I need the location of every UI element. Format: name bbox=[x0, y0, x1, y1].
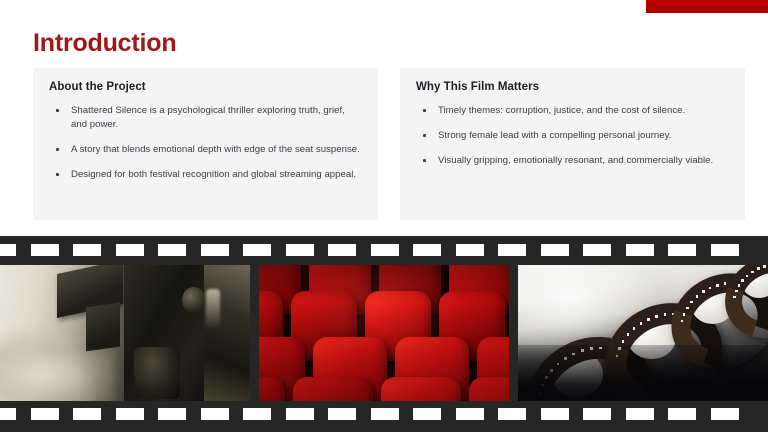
film-sprocket-hole bbox=[690, 301, 693, 304]
bullet-text: Visually gripping, emotionally resonant,… bbox=[438, 155, 713, 166]
film-sprocket-hole bbox=[738, 284, 741, 287]
filmstrip-perforation bbox=[116, 408, 144, 420]
list-item: Visually gripping, emotionally resonant,… bbox=[416, 154, 729, 168]
film-sprocket-hole bbox=[724, 282, 727, 285]
filmstrip-perforation bbox=[541, 244, 569, 256]
camera-photo-art bbox=[0, 265, 250, 401]
filmstrip-perforation bbox=[583, 244, 611, 256]
film-sprocket-hole bbox=[757, 267, 760, 270]
filmstrip-frames bbox=[0, 265, 768, 401]
bullet-text: Shattered Silence is a psychological thr… bbox=[71, 105, 345, 130]
why-this-film-matters-bullet-list: Timely themes: corruption, justice, and … bbox=[416, 104, 729, 168]
film-sprocket-hole bbox=[733, 296, 736, 299]
filmstrip-perforation bbox=[158, 244, 186, 256]
slide-canvas: Introduction About the Project Shattered… bbox=[0, 0, 768, 432]
list-item: Strong female lead with a compelling per… bbox=[416, 129, 729, 143]
page-title: Introduction bbox=[33, 28, 176, 58]
filmstrip-perforation bbox=[413, 244, 441, 256]
filmstrip-perforation bbox=[31, 408, 59, 420]
why-this-film-matters-card: Why This Film Matters Timely themes: cor… bbox=[400, 68, 745, 220]
film-sprocket-hole bbox=[746, 275, 749, 278]
filmstrip-perforation bbox=[371, 408, 399, 420]
bullet-text: A story that blends emotional depth with… bbox=[71, 144, 360, 155]
film-sprocket-hole bbox=[716, 284, 719, 287]
about-the-project-card: About the Project Shattered Silence is a… bbox=[33, 68, 378, 220]
film-sprocket-hole bbox=[664, 313, 667, 316]
filmstrip-perforation bbox=[73, 244, 101, 256]
filmstrip-perforation bbox=[371, 244, 399, 256]
bullet-dot-icon bbox=[56, 173, 59, 176]
list-item: Shattered Silence is a psychological thr… bbox=[49, 104, 362, 132]
bullet-text: Timely themes: corruption, justice, and … bbox=[438, 105, 685, 116]
bullet-dot-icon bbox=[423, 109, 426, 112]
filmstrip-perforations-top bbox=[0, 244, 768, 256]
film-sprocket-hole bbox=[633, 327, 636, 330]
list-item: Designed for both festival recognition a… bbox=[49, 168, 362, 182]
film-sprocket-hole bbox=[647, 318, 650, 321]
filmstrip-perforation bbox=[116, 244, 144, 256]
film-sprocket-hole bbox=[627, 333, 630, 336]
filmstrip-perforation bbox=[328, 244, 356, 256]
filmstrip-perforation bbox=[201, 244, 229, 256]
bullet-dot-icon bbox=[423, 134, 426, 137]
filmstrip-perforation bbox=[668, 408, 696, 420]
filmstrip-perforation bbox=[243, 408, 271, 420]
film-sprocket-hole bbox=[681, 320, 684, 323]
card-heading: Why This Film Matters bbox=[416, 81, 729, 93]
filmstrip-perforation bbox=[456, 408, 484, 420]
card-heading: About the Project bbox=[49, 81, 362, 93]
film-sprocket-hole bbox=[655, 315, 658, 318]
filmstrip-perforation bbox=[158, 408, 186, 420]
filmstrip-perforation bbox=[498, 244, 526, 256]
camera-photo-grain bbox=[0, 265, 250, 401]
filmstrip-band bbox=[0, 236, 768, 432]
filmstrip-perforation bbox=[711, 244, 739, 256]
filmstrip-perforation bbox=[286, 244, 314, 256]
bullet-dot-icon bbox=[56, 148, 59, 151]
curled-35mm-film-strips-photo bbox=[518, 265, 768, 401]
film-sprocket-hole bbox=[735, 290, 738, 293]
red-cinema-seats-photo bbox=[259, 265, 509, 401]
film-sprocket-hole bbox=[683, 313, 686, 316]
list-item: Timely themes: corruption, justice, and … bbox=[416, 104, 729, 118]
filmstrip-perforation bbox=[0, 244, 16, 256]
filmstrip-perforation bbox=[243, 244, 271, 256]
filmstrip-perforation bbox=[541, 408, 569, 420]
filmstrip-perforation bbox=[413, 408, 441, 420]
about-the-project-bullet-list: Shattered Silence is a psychological thr… bbox=[49, 104, 362, 182]
list-item: A story that blends emotional depth with… bbox=[49, 143, 362, 157]
filmstrip-perforation bbox=[201, 408, 229, 420]
bullet-text: Strong female lead with a compelling per… bbox=[438, 130, 671, 141]
filmstrip-perforation bbox=[626, 244, 654, 256]
filmstrip-perforation bbox=[73, 408, 101, 420]
bullet-dot-icon bbox=[56, 109, 59, 112]
filmstrip-perforation bbox=[328, 408, 356, 420]
filmstrip-perforation bbox=[711, 408, 739, 420]
film-sprocket-hole bbox=[751, 271, 754, 274]
filmstrip-perforation bbox=[668, 244, 696, 256]
filmstrip-perforation bbox=[583, 408, 611, 420]
filmstrip-perforation bbox=[626, 408, 654, 420]
seats-shading-overlay bbox=[259, 265, 509, 401]
filmstrip-perforations-bottom bbox=[0, 408, 768, 420]
filmstrip-perforation bbox=[31, 244, 59, 256]
accent-bar-top-right bbox=[646, 0, 768, 13]
filmstrip-perforation bbox=[456, 244, 484, 256]
film-camera-on-set-photo bbox=[0, 265, 250, 401]
film-reflection-surface bbox=[518, 345, 768, 401]
bullet-dot-icon bbox=[423, 159, 426, 162]
film-sprocket-hole bbox=[741, 279, 744, 282]
film-sprocket-hole bbox=[686, 307, 689, 310]
film-sprocket-hole bbox=[696, 295, 699, 298]
filmstrip-perforation bbox=[0, 408, 16, 420]
film-sprocket-hole bbox=[702, 290, 705, 293]
film-sprocket-hole bbox=[640, 322, 643, 325]
filmstrip-perforation bbox=[286, 408, 314, 420]
film-sprocket-hole bbox=[763, 265, 766, 268]
seats-photo-art bbox=[259, 265, 509, 401]
film-photo-art bbox=[518, 265, 768, 401]
film-sprocket-hole bbox=[622, 340, 625, 343]
bullet-text: Designed for both festival recognition a… bbox=[71, 169, 356, 180]
film-sprocket-hole bbox=[709, 287, 712, 290]
filmstrip-perforation bbox=[498, 408, 526, 420]
